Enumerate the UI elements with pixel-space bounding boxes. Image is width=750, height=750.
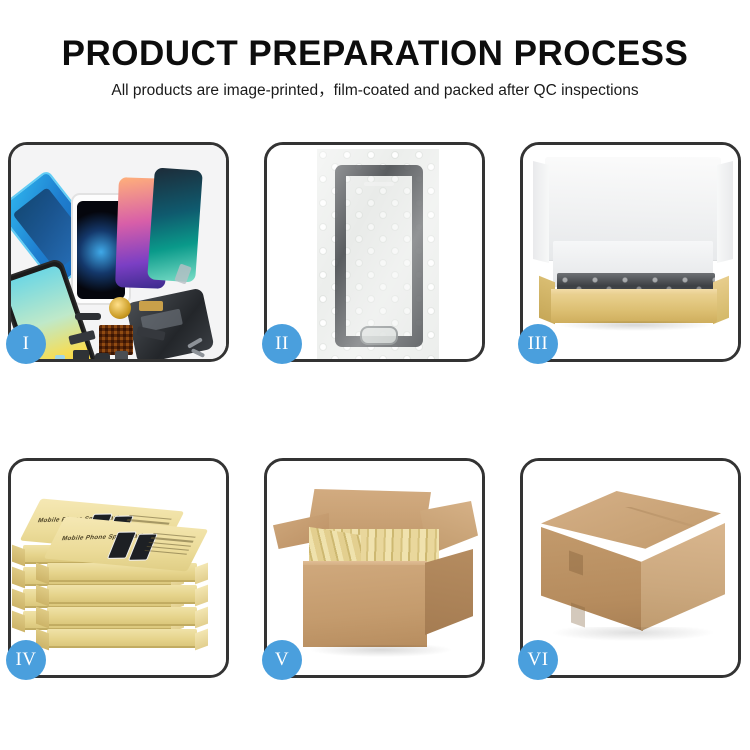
step-badge-1: I (6, 324, 46, 364)
page-header: PRODUCT PREPARATION PROCESS All products… (0, 0, 750, 102)
step-badge-4: IV (6, 640, 46, 680)
teal-gradient-phone (147, 167, 203, 282)
step-1-image (11, 145, 226, 359)
process-step-6[interactable]: VI (520, 458, 741, 678)
box-shadow (557, 321, 713, 331)
process-step-1[interactable]: I (8, 142, 229, 362)
carton-flap-tab (571, 602, 585, 627)
box-front-panel (551, 295, 717, 323)
part-sim-tray (115, 351, 128, 359)
label-spec-lines (143, 533, 196, 558)
step-4-image: Mobile Phone Spare Parts Mobile Phone Sp… (11, 461, 226, 675)
stacked-box (47, 629, 197, 648)
step-5-image (267, 461, 482, 675)
part-gold-bracket (139, 301, 163, 311)
step-badge-6: VI (518, 640, 558, 680)
step-3-image (523, 145, 738, 359)
step-badge-3: III (518, 324, 558, 364)
bubble-film (317, 149, 439, 359)
page-title: PRODUCT PREPARATION PROCESS (0, 34, 750, 74)
process-step-5[interactable]: V (264, 458, 485, 678)
step-badge-5: V (262, 640, 302, 680)
carton-shadow (311, 645, 451, 657)
step-2-image (267, 145, 482, 359)
part-light-sensor (55, 355, 65, 359)
part-speaker-module (109, 297, 131, 319)
process-step-4[interactable]: Mobile Phone Spare Parts Mobile Phone Sp… (8, 458, 229, 678)
process-step-3[interactable]: III (520, 142, 741, 362)
carton-front-face (303, 565, 427, 647)
carton-shadow (553, 627, 713, 641)
part-connector-strip (75, 313, 101, 320)
process-step-grid: I II III (8, 142, 742, 678)
process-step-2[interactable]: II (264, 142, 485, 362)
stacked-box (47, 585, 197, 604)
part-camera-module (73, 350, 89, 359)
step-6-image (523, 461, 738, 675)
part-vibrator (95, 353, 110, 359)
carton-side-face (425, 549, 473, 635)
step-badge-2: II (262, 324, 302, 364)
film-sheen (317, 149, 439, 359)
page-subtitle: All products are image-printed，film-coat… (0, 80, 750, 102)
stacked-box (47, 607, 197, 626)
